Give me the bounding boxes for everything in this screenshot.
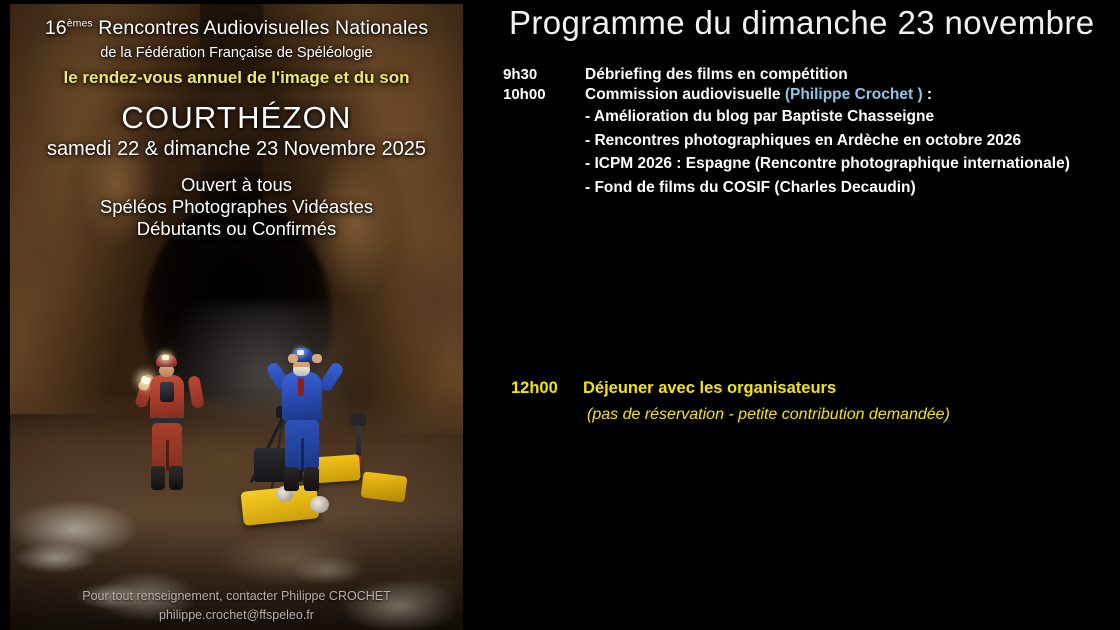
poster-audience-line-3: Débutants ou Confirmés	[10, 218, 463, 240]
schedule-description-colon: :	[923, 86, 932, 103]
poster-city: COURTHÉZON	[10, 100, 463, 136]
list-item: - Amélioration du blog par Baptiste Chas…	[585, 108, 1110, 126]
photo-vignette	[10, 4, 463, 630]
poster-contact-email: philippe.crochet@ffspeleo.fr	[10, 608, 463, 622]
page-title: Programme du dimanche 23 novembre	[509, 4, 1095, 42]
programme-panel: Programme du dimanche 23 novembre 9h30 D…	[463, 0, 1120, 630]
lunch-row: 12h00 Déjeuner avec les organisateurs	[511, 379, 950, 398]
schedule-list: 9h30 Débriefing des films en compétition…	[503, 66, 1110, 202]
lunch-time: 12h00	[511, 379, 583, 398]
poster-contact-line: Pour tout renseignement, contacter Phili…	[10, 589, 463, 603]
schedule-time: 10h00	[503, 86, 585, 103]
agenda-bullet-list: - Amélioration du blog par Baptiste Chas…	[503, 108, 1110, 197]
event-poster: 16èmes Rencontres Audiovisuelles Nationa…	[10, 4, 463, 630]
schedule-row-2: 10h00 Commission audiovisuelle (Philippe…	[503, 86, 1110, 104]
list-item: - ICPM 2026 : Espagne (Rencontre photogr…	[585, 155, 1110, 173]
schedule-row-1: 9h30 Débriefing des films en compétition	[503, 66, 1110, 84]
poster-audience-line-1: Ouvert à tous	[10, 174, 463, 196]
schedule-description-text: Commission audiovisuelle	[585, 86, 785, 103]
poster-federation-line: de la Fédération Française de Spéléologi…	[10, 45, 463, 61]
schedule-description: Débriefing des films en compétition	[585, 66, 848, 84]
poster-edition-number: 16	[45, 17, 67, 39]
lunch-description: Déjeuner avec les organisateurs	[583, 379, 836, 398]
slide-root: 16èmes Rencontres Audiovisuelles Nationa…	[0, 0, 1120, 630]
speaker-name-highlight: (Philippe Crochet )	[785, 86, 923, 103]
poster-edition-suffix: èmes	[67, 18, 93, 30]
list-item: - Rencontres photographiques en Ardèche …	[585, 132, 1110, 150]
poster-dates: samedi 22 & dimanche 23 Novembre 2025	[10, 138, 463, 161]
poster-headline: 16èmes Rencontres Audiovisuelles Nationa…	[10, 17, 463, 40]
poster-audience-line-2: Spéléos Photographes Vidéastes	[10, 196, 463, 218]
cave-photograph	[10, 4, 463, 630]
lunch-note: (pas de réservation - petite contributio…	[511, 406, 950, 424]
list-item: - Fond de films du COSIF (Charles Decaud…	[585, 179, 1110, 197]
lunch-block: 12h00 Déjeuner avec les organisateurs (p…	[511, 379, 950, 424]
schedule-time: 9h30	[503, 66, 585, 83]
poster-tagline: le rendez-vous annuel de l'image et du s…	[10, 68, 463, 88]
poster-headline-rest: Rencontres Audiovisuelles Nationales	[93, 17, 428, 39]
schedule-description: Commission audiovisuelle (Philippe Croch…	[585, 86, 932, 104]
